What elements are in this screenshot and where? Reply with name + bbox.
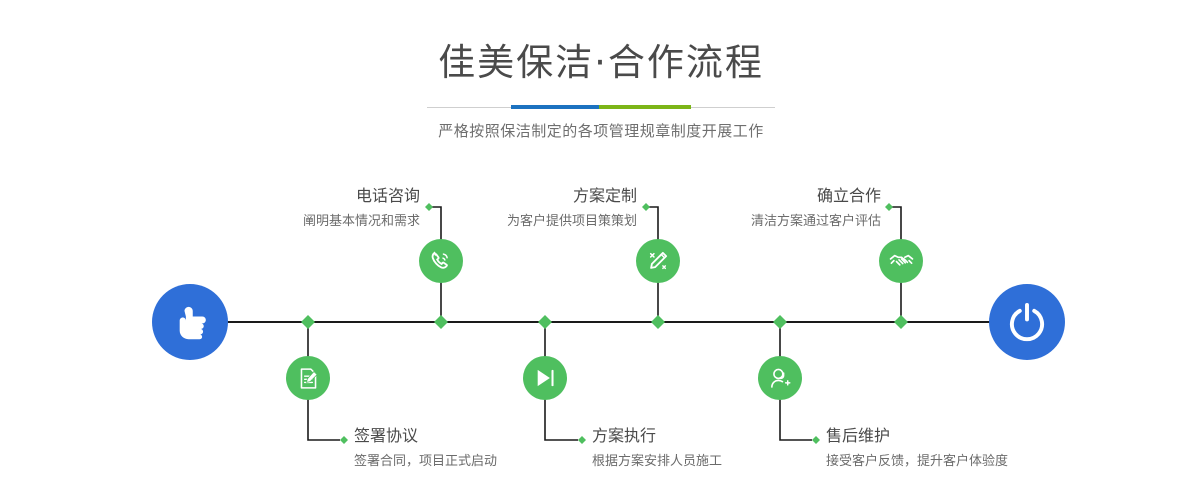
step-label-top-3: 确立合作 清洁方案通过客户评估: [676, 188, 881, 228]
step-desc: 为客户提供项目策策划: [432, 215, 637, 228]
handshake-icon: [888, 248, 915, 275]
phone-call-icon: [428, 248, 454, 274]
timeline-start-node[interactable]: [152, 284, 228, 360]
step-label-bottom-3: 售后维护 接受客户反馈，提升客户体验度: [826, 428, 1126, 468]
step-desc: 根据方案安排人员施工: [592, 455, 852, 468]
step-title: 确立合作: [676, 188, 881, 204]
step-title: 电话咨询: [215, 188, 420, 204]
step-desc: 接受客户反馈，提升客户体验度: [826, 455, 1126, 468]
step-title: 方案定制: [432, 188, 637, 204]
step-title: 售后维护: [826, 428, 1126, 444]
step-desc: 签署合同，项目正式启动: [354, 455, 614, 468]
step-desc: 阐明基本情况和需求: [215, 215, 420, 228]
label-diamonds: [340, 203, 893, 444]
power-icon: [1006, 301, 1048, 343]
step-icon-document-sign[interactable]: [286, 356, 330, 400]
pointing-hand-icon: [168, 300, 212, 344]
step-icon-handshake[interactable]: [879, 239, 923, 283]
step-title: 方案执行: [592, 428, 852, 444]
step-desc: 清洁方案通过客户评估: [676, 215, 881, 228]
step-icon-customer-service[interactable]: [758, 356, 802, 400]
process-timeline: 电话咨询 阐明基本情况和需求 方案定制 为客户提供项目策策划 确立合作 清洁方案…: [0, 0, 1202, 502]
document-sign-icon: [296, 366, 321, 391]
step-label-top-2: 方案定制 为客户提供项目策策划: [432, 188, 637, 228]
step-title: 签署协议: [354, 428, 614, 444]
flow-diagram-page: 佳美保洁·合作流程 严格按照保洁制定的各项管理规章制度开展工作: [0, 0, 1202, 502]
step-icon-pencil-design[interactable]: [636, 239, 680, 283]
customer-service-icon: [767, 365, 793, 391]
play-execute-icon: [532, 365, 558, 391]
step-icon-phone-call[interactable]: [419, 239, 463, 283]
step-label-bottom-1: 签署协议 签署合同，项目正式启动: [354, 428, 614, 468]
pencil-design-icon: [645, 248, 671, 274]
timeline-end-node[interactable]: [989, 284, 1065, 360]
step-label-top-1: 电话咨询 阐明基本情况和需求: [215, 188, 420, 228]
step-icon-play-execute[interactable]: [523, 356, 567, 400]
step-label-bottom-2: 方案执行 根据方案安排人员施工: [592, 428, 852, 468]
